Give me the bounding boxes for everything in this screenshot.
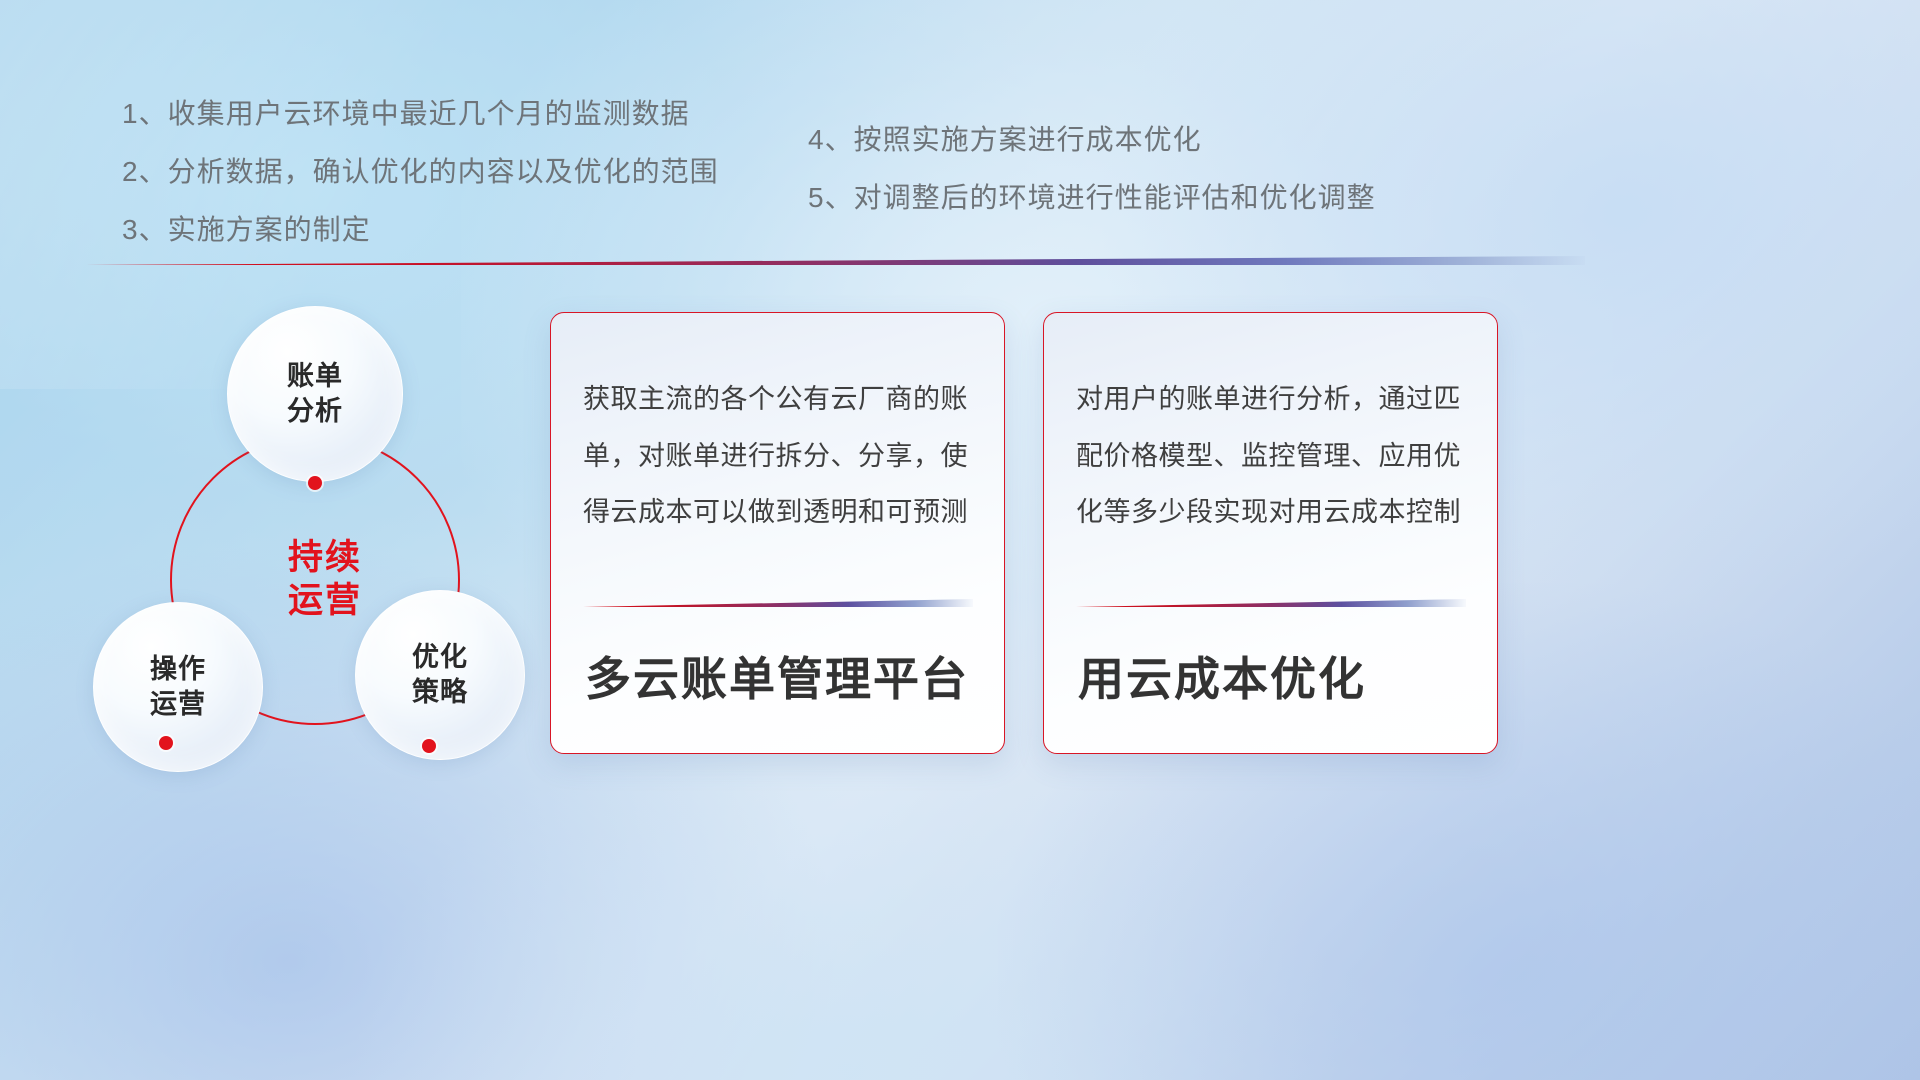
info-card-cloud-cost-optimization[interactable]: 对用户的账单进行分析，通过匹配价格模型、监控管理、应用优化等多少段实现对用云成本…: [1043, 312, 1498, 754]
venn-bubble-bill-analysis[interactable]: 账单 分析: [227, 306, 403, 482]
venn-diagram: 账单 分析 操作 运营 优化 策略 持续 运营: [75, 290, 545, 770]
card-description: 对用户的账单进行分析，通过匹配价格模型、监控管理、应用优化等多少段实现对用云成本…: [1076, 371, 1471, 541]
venn-center-label: 持续 运营: [245, 485, 405, 675]
step-item: 5、对调整后的环境进行性能评估和优化调整: [808, 184, 1376, 212]
venn-bubble-label: 账单 分析: [287, 359, 343, 428]
step-item: 3、实施方案的制定: [122, 216, 719, 244]
venn-bubble-label: 优化 策略: [412, 640, 468, 709]
card-description: 获取主流的各个公有云厂商的账单，对账单进行拆分、分享，使得云成本可以做到透明和可…: [583, 371, 978, 541]
step-item: 4、按照实施方案进行成本优化: [808, 126, 1376, 154]
venn-node-dot-left: [159, 736, 173, 750]
card-title: 多云账单管理平台: [585, 643, 969, 709]
slide-canvas: 1、收集用户云环境中最近几个月的监测数据 2、分析数据，确认优化的内容以及优化的…: [0, 0, 1920, 1080]
venn-node-dot-right: [422, 739, 436, 753]
step-item: 1、收集用户云环境中最近几个月的监测数据: [122, 100, 719, 128]
step-item: 2、分析数据，确认优化的内容以及优化的范围: [122, 158, 719, 186]
venn-bubble-label: 操作 运营: [150, 652, 206, 721]
steps-list-left: 1、收集用户云环境中最近几个月的监测数据 2、分析数据，确认优化的内容以及优化的…: [122, 100, 719, 274]
card-title: 用云成本优化: [1078, 643, 1366, 709]
info-card-multi-cloud-billing[interactable]: 获取主流的各个公有云厂商的账单，对账单进行拆分、分享，使得云成本可以做到透明和可…: [550, 312, 1005, 754]
venn-bubble-operations[interactable]: 操作 运营: [93, 602, 263, 772]
card-divider-line: [1076, 599, 1466, 607]
card-divider-line: [583, 599, 973, 607]
steps-list-right: 4、按照实施方案进行成本优化 5、对调整后的环境进行性能评估和优化调整: [808, 126, 1376, 242]
